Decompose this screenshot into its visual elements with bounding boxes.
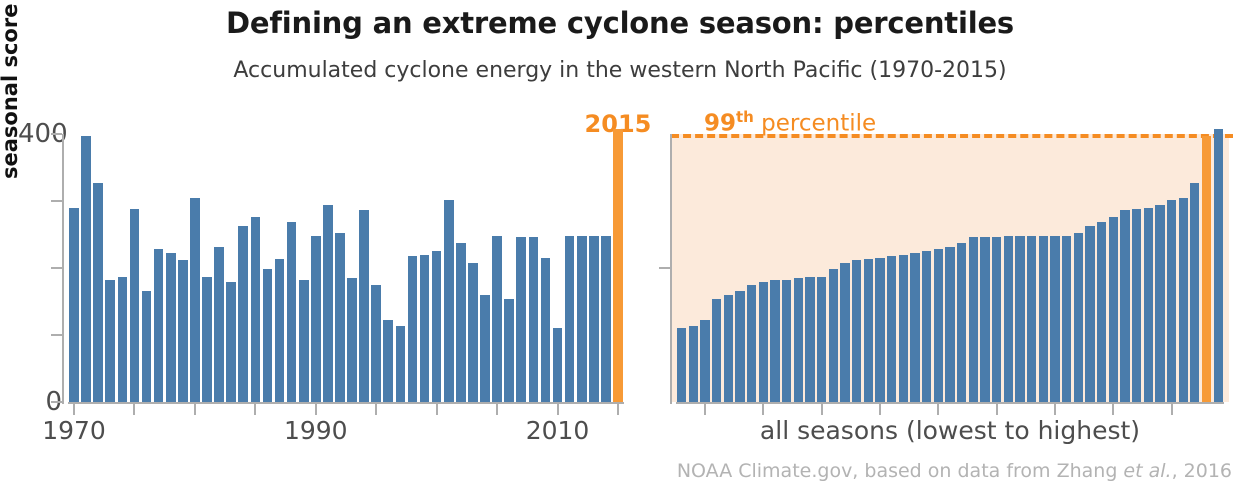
x-axis-tick [1054, 404, 1056, 415]
bar-series-sorted [676, 134, 1224, 402]
bar [371, 285, 381, 402]
bar [1027, 236, 1036, 402]
x-axis-tick [254, 404, 256, 415]
bar [735, 291, 744, 402]
bar [805, 277, 814, 402]
bar [817, 277, 826, 402]
bar [945, 247, 954, 402]
bar [287, 222, 297, 402]
bar [1144, 208, 1153, 402]
bar [957, 243, 966, 402]
bar [1074, 233, 1083, 402]
plot-area-sorted [676, 134, 1224, 402]
bar [864, 259, 873, 402]
bar [724, 295, 733, 402]
bar [1085, 226, 1094, 402]
y-axis-tick [51, 200, 62, 202]
y-axis-line [62, 134, 64, 404]
bar [541, 258, 551, 402]
bar [1179, 198, 1188, 402]
bar [840, 263, 849, 402]
plot-area-by-year [68, 134, 624, 402]
x-axis-tick [375, 404, 377, 415]
bar [275, 259, 285, 402]
bar [251, 217, 261, 402]
percentile-annotation-label: 99th percentile [704, 108, 876, 137]
bar [712, 299, 721, 402]
bar [130, 209, 140, 402]
bar [747, 285, 756, 402]
x-axis-tick [996, 404, 998, 415]
bar [887, 256, 896, 402]
x-axis-tick [1171, 404, 1173, 415]
y-axis-tick [51, 133, 62, 135]
bar [335, 233, 345, 402]
x-axis-tick [704, 404, 706, 415]
bar [1062, 236, 1071, 402]
bar [700, 320, 709, 402]
bar [154, 249, 164, 402]
bar [1132, 209, 1141, 402]
bar [93, 183, 103, 402]
bar [311, 236, 321, 402]
x-axis-tick [821, 404, 823, 415]
bar [782, 280, 791, 402]
credit-prefix: NOAA Climate.gov, based on data from Zha… [677, 460, 1124, 482]
bar [323, 205, 333, 402]
bar [492, 236, 502, 402]
bar [1097, 222, 1106, 402]
bar [118, 277, 128, 402]
bar [69, 208, 79, 402]
bar [299, 280, 309, 402]
bar [992, 237, 1001, 402]
y-axis-label: seasonal score (ACE) [0, 0, 22, 180]
bar [190, 198, 200, 402]
percentile-word: percentile [754, 111, 876, 137]
bar [577, 236, 587, 402]
bar [794, 278, 803, 402]
bar [852, 260, 861, 402]
x-tick-label-2010: 2010 [518, 416, 598, 445]
bar [202, 277, 212, 402]
bar [677, 328, 686, 402]
bar [359, 210, 369, 402]
bar [899, 255, 908, 402]
percentile-number: 99 [704, 111, 736, 137]
bar [875, 258, 884, 402]
bar [1004, 236, 1013, 402]
bar [759, 282, 768, 402]
percentile-ordinal-suffix: th [736, 108, 754, 126]
bar [444, 200, 454, 402]
bar [263, 269, 273, 402]
bar [770, 280, 779, 402]
bar [1109, 217, 1118, 402]
x-axis-line [676, 402, 1224, 404]
bar [142, 291, 152, 402]
bar [969, 237, 978, 402]
bar [829, 269, 838, 402]
y-axis-tick [51, 334, 62, 336]
x-axis-tick [73, 404, 75, 415]
bar [1015, 236, 1024, 402]
x-axis-label-sorted: all seasons (lowest to highest) [676, 416, 1224, 445]
page-title: Defining an extreme cyclone season: perc… [0, 6, 1240, 40]
bar [1190, 183, 1199, 402]
bar [922, 251, 931, 402]
bar [432, 251, 442, 402]
credit-suffix: , 2016 [1172, 460, 1232, 482]
x-axis-tick [1112, 404, 1114, 415]
bar [408, 256, 418, 402]
bar [1155, 205, 1164, 402]
bar [420, 255, 430, 402]
bar [480, 295, 490, 402]
x-axis-tick [133, 404, 135, 415]
bar [934, 249, 943, 402]
bar [601, 236, 611, 402]
x-axis-tick [315, 404, 317, 415]
bar [226, 282, 236, 402]
bar [613, 129, 623, 402]
x-axis-tick [879, 404, 881, 415]
y-axis-tick [51, 401, 62, 403]
bar [1214, 129, 1223, 402]
bar [1120, 210, 1129, 402]
bar [383, 320, 393, 402]
bar-series-by-year [68, 134, 624, 402]
bar [456, 243, 466, 402]
bar [468, 263, 478, 402]
source-credit: NOAA Climate.gov, based on data from Zha… [677, 460, 1232, 482]
page-subtitle: Accumulated cyclone energy in the wester… [0, 58, 1240, 83]
bar [1202, 136, 1211, 402]
bar [980, 237, 989, 402]
x-axis-tick [937, 404, 939, 415]
bar [214, 247, 224, 402]
bar [1167, 200, 1176, 402]
x-axis-tick [194, 404, 196, 415]
bar [1039, 236, 1048, 402]
bar [689, 326, 698, 402]
bar [238, 226, 248, 402]
bar [105, 280, 115, 402]
bar [504, 299, 514, 402]
bar [529, 237, 539, 402]
x-axis-tick [436, 404, 438, 415]
bar [565, 236, 575, 402]
y-axis-tick-right [659, 267, 670, 269]
bar [516, 237, 526, 402]
bar [1050, 236, 1059, 402]
x-axis-tick [617, 404, 619, 415]
bar [81, 136, 91, 402]
bar [166, 253, 176, 402]
bar [910, 253, 919, 402]
bar [553, 328, 563, 402]
x-tick-label-1990: 1990 [276, 416, 356, 445]
bar [178, 260, 188, 402]
x-axis-tick [557, 404, 559, 415]
y-axis-tick [51, 267, 62, 269]
x-axis-tick [762, 404, 764, 415]
bar [347, 278, 357, 402]
x-tick-label-1970: 1970 [34, 416, 114, 445]
credit-italic: et al. [1123, 460, 1171, 482]
x-axis-line [68, 402, 624, 404]
bar [396, 326, 406, 402]
x-axis-tick [496, 404, 498, 415]
y-axis-line-right [670, 134, 672, 404]
bar [589, 236, 599, 402]
